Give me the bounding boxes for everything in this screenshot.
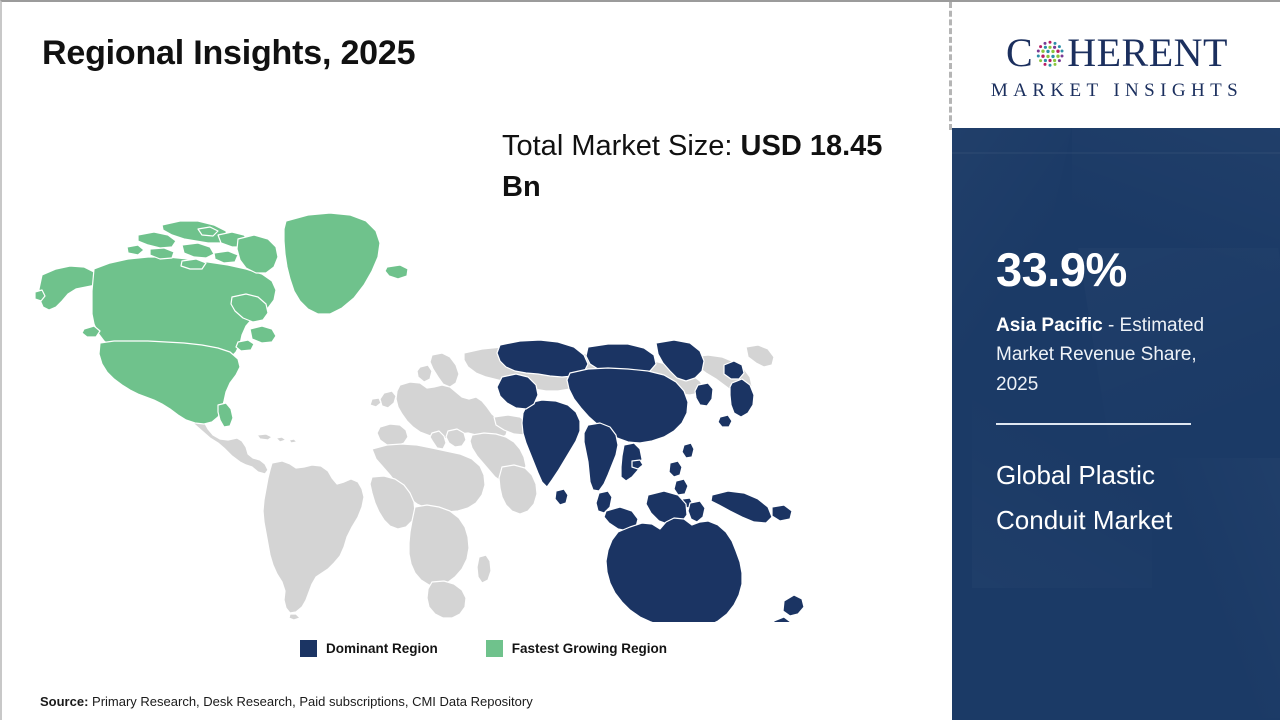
globe-dots-icon [1034,38,1066,70]
fastest-growing-region-swatch [486,640,503,657]
panel-texture-5 [952,152,1280,154]
legend-item-fastest-growing: Fastest Growing Region [486,640,667,657]
logo-wordmark: C [1006,30,1228,76]
map-region-north-america [35,213,408,427]
source-text: Primary Research, Desk Research, Paid su… [88,694,532,709]
page-title: Regional Insights, 2025 [42,34,415,73]
brand-logo: C [952,4,1280,128]
panel-content: 33.9% Asia Pacific - Estimated Market Re… [952,246,1280,543]
source-label: Source: [40,694,88,709]
dominant-region-swatch [300,640,317,657]
logo-letters-herent: HERENT [1067,33,1228,73]
stat-info-panel: 33.9% Asia Pacific - Estimated Market Re… [952,128,1280,720]
map-legend: Dominant Region Fastest Growing Region [300,640,667,657]
logo-letter-c: C [1006,33,1033,73]
legend-label-fastest-growing: Fastest Growing Region [512,641,667,656]
legend-item-dominant: Dominant Region [300,640,438,657]
market-size-label: Total Market Size: [502,130,741,162]
source-note: Source: Primary Research, Desk Research,… [40,694,533,709]
stat-description: Asia Pacific - Estimated Market Revenue … [996,311,1242,399]
infographic-canvas: Regional Insights, 2025 Total Market Siz… [0,0,1280,720]
legend-label-dominant: Dominant Region [326,641,438,656]
logo-subtitle: MARKET INSIGHTS [991,80,1243,102]
stat-percentage: 33.9% [996,246,1248,293]
panel-divider-rule [996,423,1191,425]
market-name: Global Plastic Conduit Market [996,453,1226,542]
world-map [32,177,832,622]
left-panel: Regional Insights, 2025 Total Market Siz… [2,2,950,720]
stat-region-name: Asia Pacific [996,315,1103,336]
